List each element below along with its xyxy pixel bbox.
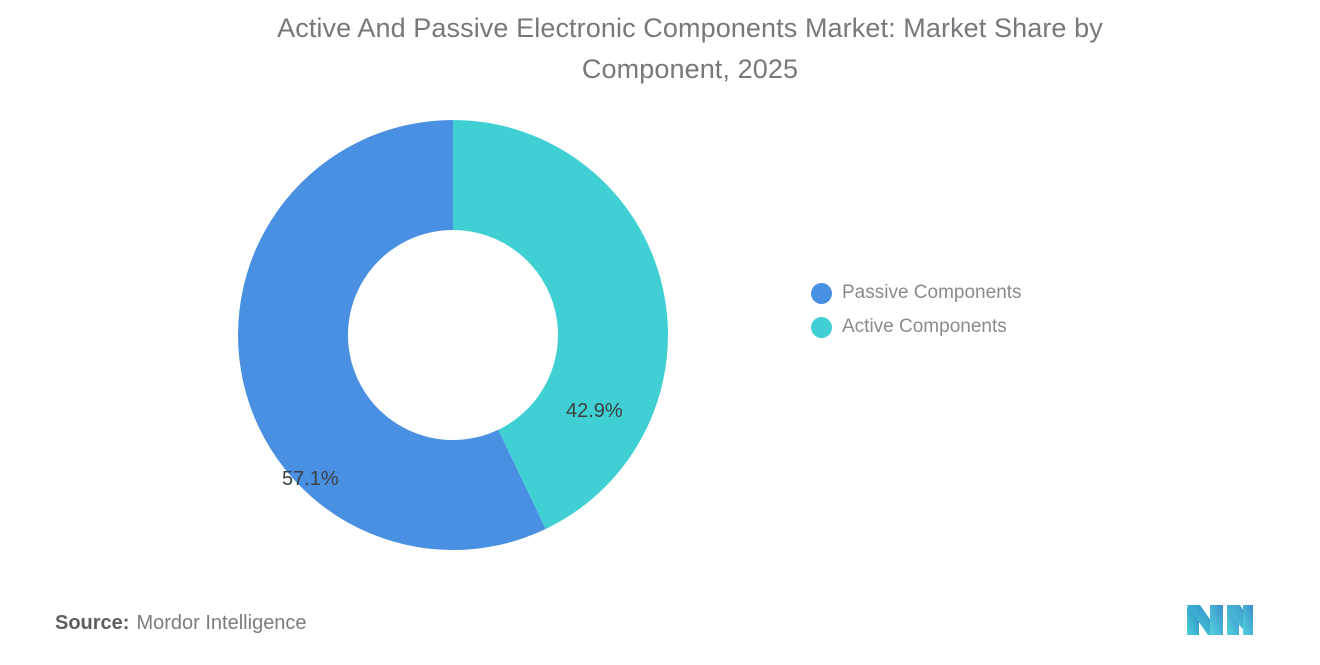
legend-label-passive-components: Passive Components (842, 282, 1022, 304)
source-label: Source: (55, 612, 129, 634)
logo-mark-icon (1187, 597, 1253, 637)
legend-swatch-icon-active-components (811, 317, 832, 338)
source-attribution: Source:Mordor Intelligence (55, 612, 307, 635)
legend-swatch-icon-passive-components (811, 283, 832, 304)
chart-title-line-1: Active And Passive Electronic Components… (277, 13, 1103, 43)
legend-item-passive-components[interactable]: Passive Components (811, 282, 1022, 304)
slice-value-label-passive-components: 57.1% (282, 468, 339, 491)
mordor-intelligence-logo (1187, 597, 1253, 637)
chart-legend: Passive Components Active Components (811, 282, 1022, 338)
chart-title-line-2: Component, 2025 (582, 54, 798, 84)
source-value: Mordor Intelligence (136, 612, 306, 634)
page-title: Active And Passive Electronic Components… (180, 8, 1200, 90)
legend-item-active-components[interactable]: Active Components (811, 316, 1022, 338)
legend-label-active-components: Active Components (842, 316, 1007, 338)
donut-chart: 57.1% 42.9% (238, 120, 668, 550)
slice-value-label-active-components: 42.9% (566, 400, 623, 423)
